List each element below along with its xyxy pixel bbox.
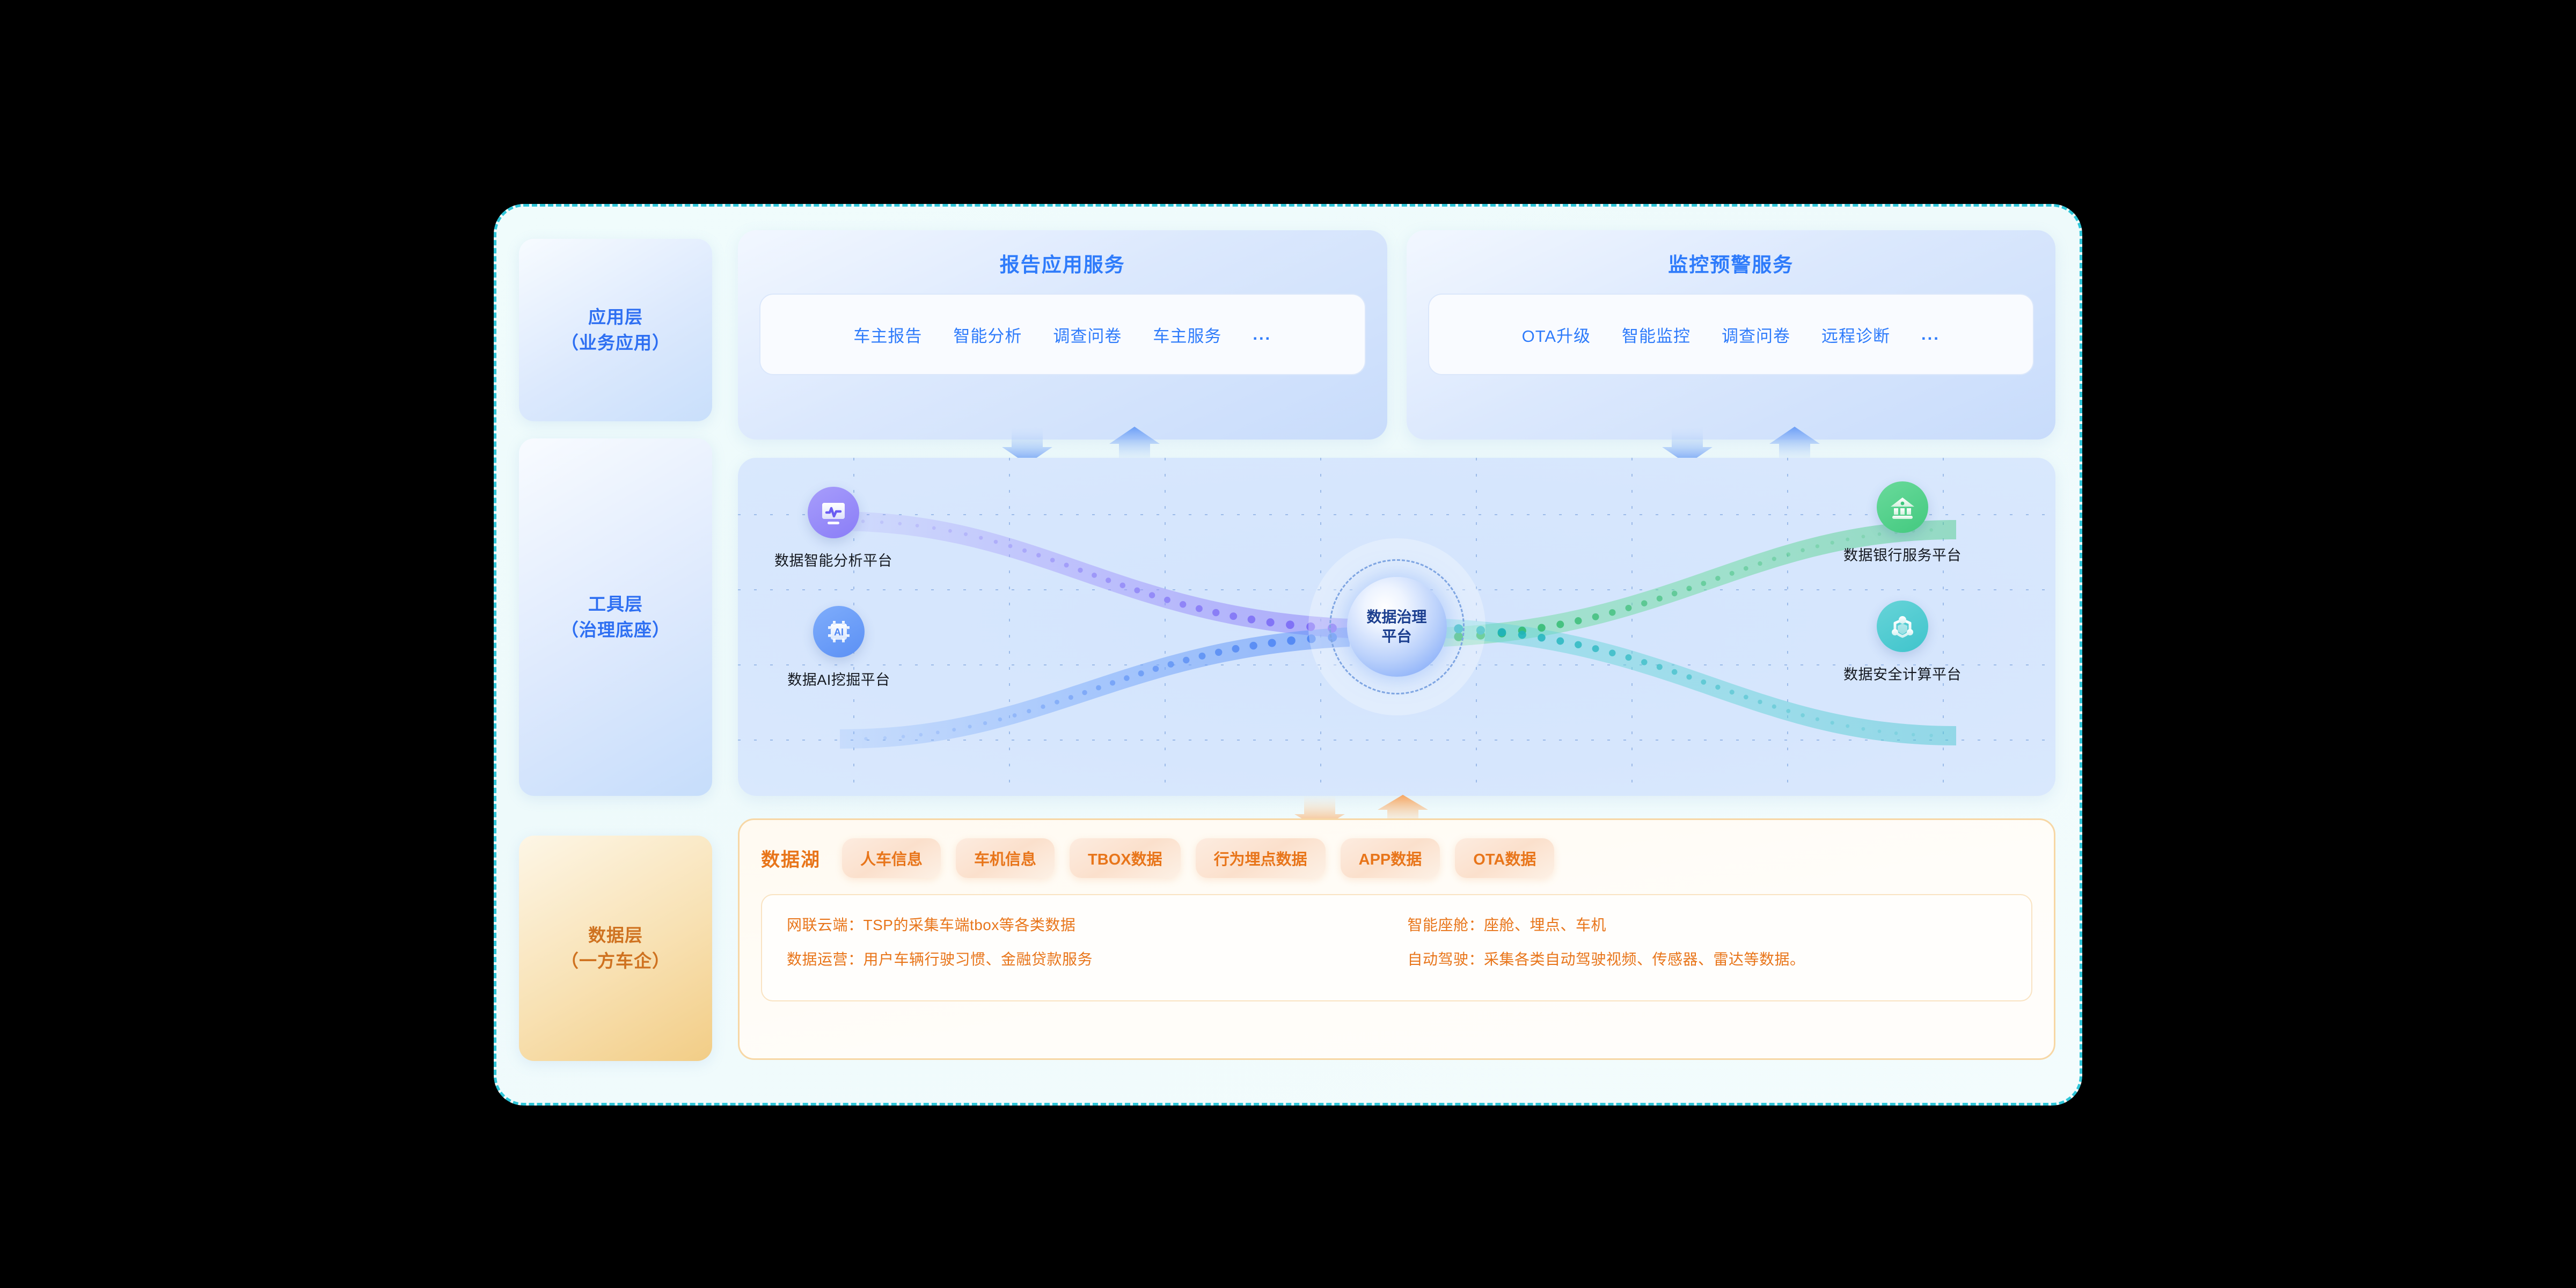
service-item-ota-upgrade[interactable]: OTA升级 xyxy=(1522,323,1591,347)
data-tag-vehicle-machine[interactable]: 车机信息 xyxy=(956,838,1055,878)
service-card-report[interactable]: 报告应用服务 车主报告 智能分析 调查问卷 车主服务 ... xyxy=(738,230,1387,440)
monitor-pulse-icon xyxy=(808,487,859,538)
data-tag-tbox[interactable]: TBOX数据 xyxy=(1070,838,1181,878)
service-item-survey[interactable]: 调查问卷 xyxy=(1053,323,1122,347)
service-item-more-monitor[interactable]: ... xyxy=(1921,325,1940,344)
shield-network-icon xyxy=(1877,601,1928,652)
service-item-owner-report[interactable]: 车主报告 xyxy=(853,323,922,347)
data-lake-title: 数据湖 xyxy=(761,845,821,872)
layer-chip-data-subtitle: （一方车企） xyxy=(561,948,670,974)
layer-chip-application-subtitle: （业务应用） xyxy=(561,330,670,356)
platform-node-bank[interactable]: 数据银行服务平台 xyxy=(1843,481,1962,565)
description-column-left: 网联云端：TSP的采集车端tbox等各类数据 数据运营：用户车辆行驶习惯、金融贷… xyxy=(787,913,1386,982)
data-tag-person-vehicle[interactable]: 人车信息 xyxy=(842,838,941,878)
service-card-monitor-title: 监控预警服务 xyxy=(1668,248,1794,277)
service-item-survey-monitor[interactable]: 调查问卷 xyxy=(1722,323,1790,347)
platform-node-ai-label: 数据AI挖掘平台 xyxy=(787,668,890,689)
description-smart-cockpit: 智能座舱：座舱、埋点、车机 xyxy=(1408,913,2007,935)
layer-chip-tool-title: 工具层 xyxy=(588,591,643,617)
layer-chip-data: 数据层 （一方车企） xyxy=(519,836,712,1061)
service-card-report-items: 车主报告 智能分析 调查问卷 车主服务 ... xyxy=(759,294,1366,375)
bank-building-icon xyxy=(1877,481,1928,533)
description-autonomous-driving: 自动驾驶：采集各类自动驾驶视频、传感器、雷达等数据。 xyxy=(1408,948,2007,969)
data-tag-ota[interactable]: OTA数据 xyxy=(1455,838,1554,878)
service-card-monitor[interactable]: 监控预警服务 OTA升级 智能监控 调查问卷 远程诊断 ... xyxy=(1407,230,2056,440)
platform-node-bank-label: 数据银行服务平台 xyxy=(1843,544,1962,565)
data-tag-behavior-tracking[interactable]: 行为埋点数据 xyxy=(1196,838,1326,878)
service-item-smart-monitor[interactable]: 智能监控 xyxy=(1622,323,1690,347)
layer-chip-data-title: 数据层 xyxy=(588,923,643,948)
description-connected-cloud: 网联云端：TSP的采集车端tbox等各类数据 xyxy=(787,913,1386,935)
platform-node-analysis[interactable]: 数据智能分析平台 xyxy=(774,487,892,570)
service-card-report-title: 报告应用服务 xyxy=(1000,248,1125,277)
service-card-monitor-items: OTA升级 智能监控 调查问卷 远程诊断 ... xyxy=(1428,294,2035,375)
platform-node-analysis-label: 数据智能分析平台 xyxy=(774,549,892,570)
service-item-owner-service[interactable]: 车主服务 xyxy=(1153,323,1221,347)
layer-chip-application: 应用层 （业务应用） xyxy=(519,239,712,421)
svg-text:AI: AI xyxy=(834,627,844,638)
architecture-diagram-frame: 应用层 （业务应用） 工具层 （治理底座） 数据层 （一方车企） 报告应用服务 … xyxy=(494,204,2082,1106)
platform-node-ai[interactable]: AI 数据AI挖掘平台 xyxy=(780,606,898,689)
platform-node-security[interactable]: 数据安全计算平台 xyxy=(1843,601,1962,684)
data-layer-panel: 数据湖 人车信息 车机信息 TBOX数据 行为埋点数据 APP数据 OTA数据 … xyxy=(738,818,2055,1060)
data-source-description-box: 网联云端：TSP的采集车端tbox等各类数据 数据运营：用户车辆行驶习惯、金融贷… xyxy=(761,894,2032,1001)
service-item-remote-diagnose[interactable]: 远程诊断 xyxy=(1821,323,1890,347)
service-item-more-report[interactable]: ... xyxy=(1253,325,1271,344)
tool-layer-panel: 数据治理 平台 数据智能分析平台 xyxy=(738,458,2055,796)
hub-title-line1: 数据治理 xyxy=(1366,608,1426,627)
ai-chip-icon: AI xyxy=(813,606,865,657)
description-column-right: 智能座舱：座舱、埋点、车机 自动驾驶：采集各类自动驾驶视频、传感器、雷达等数据。 xyxy=(1408,913,2007,982)
layer-chip-application-title: 应用层 xyxy=(588,304,643,330)
hub-core[interactable]: 数据治理 平台 xyxy=(1347,577,1447,677)
service-item-smart-analysis[interactable]: 智能分析 xyxy=(953,323,1022,347)
data-tag-app[interactable]: APP数据 xyxy=(1341,838,1440,878)
hub-title-line2: 平台 xyxy=(1381,627,1411,646)
application-layer-row: 报告应用服务 车主报告 智能分析 调查问卷 车主服务 ... 监控预警服务 OT… xyxy=(738,230,2055,440)
data-governance-hub[interactable]: 数据治理 平台 xyxy=(1308,538,1485,715)
description-data-operation: 数据运营：用户车辆行驶习惯、金融贷款服务 xyxy=(787,948,1386,969)
platform-node-security-label: 数据安全计算平台 xyxy=(1843,663,1962,684)
layer-chip-tool: 工具层 （治理底座） xyxy=(519,438,712,796)
layer-chip-tool-subtitle: （治理底座） xyxy=(561,617,670,643)
data-lake-row: 数据湖 人车信息 车机信息 TBOX数据 行为埋点数据 APP数据 OTA数据 xyxy=(761,838,2032,878)
